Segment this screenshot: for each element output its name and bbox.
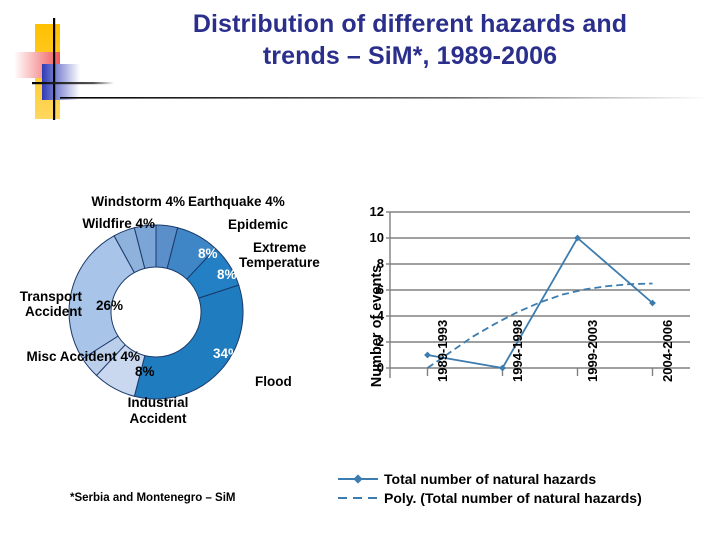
donut-label-industrial-accident-line2: Accident: [98, 411, 218, 426]
y-axis-tick-label: 12: [360, 204, 384, 219]
logo-vertical-line: [53, 18, 55, 120]
footnote: *Serbia and Montenegro – SiM: [70, 492, 236, 504]
donut-label-industrial-accident-line1: Industrial: [98, 395, 218, 410]
donut-value-extreme-temperature: 8%: [217, 268, 237, 282]
donut-segment: [134, 285, 243, 399]
y-axis-tick-label: 0: [360, 360, 384, 375]
donut-label-epidemic: Epidemic: [228, 217, 288, 232]
donut-value-industrial-accident: 8%: [135, 365, 155, 379]
donut-label-extreme-temperature-line2: Temperature: [239, 255, 320, 270]
legend-label-series: Total number of natural hazards: [384, 470, 596, 488]
chart-legend: Total number of natural hazards Poly. (T…: [332, 470, 720, 512]
y-axis-tick-label: 2: [360, 334, 384, 349]
page-title: Distribution of different hazards and tr…: [120, 8, 700, 72]
x-axis-tick-label: 1989-1993: [435, 320, 450, 382]
decorative-logo: [14, 12, 114, 127]
donut-value-flood: 34%: [213, 347, 240, 361]
hazard-distribution-donut-chart: Windstorm 4% Wildfire 4% Earthquake 4% E…: [0, 195, 360, 445]
title-line-2: trends – SiM*, 1989-2006: [120, 40, 700, 72]
trendline-series: [428, 284, 653, 369]
donut-label-wildfire: Wildfire 4%: [0, 216, 155, 231]
donut-value-transport-accident: 26%: [96, 299, 123, 313]
donut-label-transport-accident-line1: Transport: [0, 289, 82, 304]
x-axis-tick-label: 2004-2006: [660, 320, 675, 382]
donut-value-epidemic: 8%: [198, 247, 218, 261]
title-underline: [60, 96, 710, 100]
slide-canvas: Distribution of different hazards and tr…: [0, 0, 720, 540]
logo-horizontal-line: [32, 82, 114, 84]
y-axis-tick-label: 10: [360, 230, 384, 245]
x-axis-tick-label: 1994-1998: [510, 320, 525, 382]
y-axis-title: Number of events: [369, 251, 385, 401]
natural-hazard-trend-line-chart: Number of events 0246810121989-19931994-…: [348, 200, 720, 510]
y-axis-tick-label: 6: [360, 282, 384, 297]
legend-label-trendline: Poly. (Total number of natural hazards): [384, 489, 642, 507]
y-axis-tick-label: 4: [360, 308, 384, 323]
donut-label-earthquake: Earthquake 4%: [188, 194, 285, 209]
data-point-marker: [424, 352, 431, 359]
logo-graphic: [14, 12, 114, 127]
data-series-line: [428, 238, 653, 368]
title-line-1: Distribution of different hazards and: [120, 8, 700, 40]
donut-label-transport-accident-line2: Accident: [0, 304, 82, 319]
donut-label-flood: Flood: [255, 374, 292, 389]
y-axis-tick-label: 8: [360, 256, 384, 271]
legend-key-dashed-line: [336, 489, 380, 507]
x-axis-tick-label: 1999-2003: [585, 320, 600, 382]
legend-key-solid-line-marker: [336, 470, 380, 488]
donut-label-windstorm: Windstorm 4%: [0, 194, 185, 209]
donut-label-extreme-temperature-line1: Extreme: [253, 240, 306, 255]
donut-label-misc-accident: Misc Accident 4%: [0, 349, 140, 364]
